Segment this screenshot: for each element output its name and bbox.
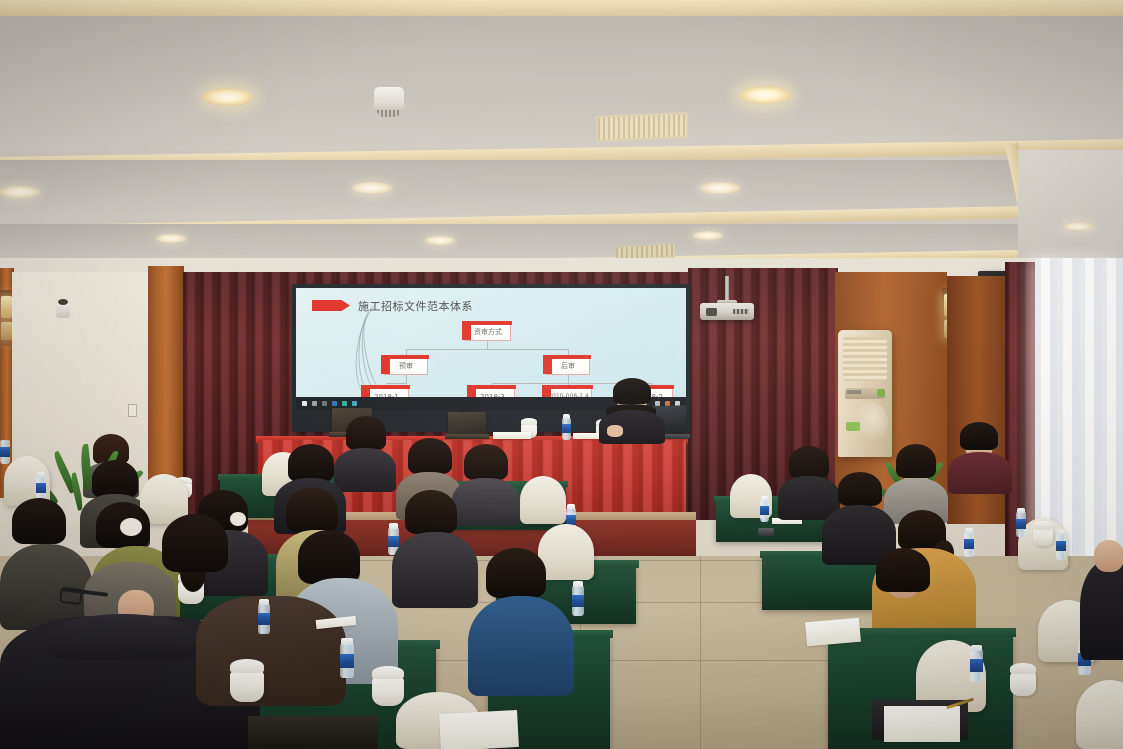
attendee-l-m2-hair xyxy=(286,488,338,532)
bottle-label-head-1 xyxy=(562,424,571,433)
teacup-lid-r2 xyxy=(1010,663,1036,674)
paper-l2[interactable] xyxy=(439,710,519,749)
projector-icon xyxy=(700,303,754,320)
bottle-label-l6 xyxy=(340,654,354,668)
attendee-r-n1-hair xyxy=(876,548,930,592)
paper-r3[interactable] xyxy=(805,618,861,647)
bottle-label-l7 xyxy=(258,613,270,625)
teacup-lid-r1 xyxy=(1033,521,1053,530)
attendee-c-m1-hair xyxy=(405,490,457,534)
bottle-cap-r5 xyxy=(971,645,982,651)
paper-r2[interactable] xyxy=(884,706,960,742)
attendee-l-f1-body xyxy=(334,448,396,492)
ceiling-panel-1 xyxy=(0,16,1123,149)
wall-camera-icon xyxy=(56,302,70,318)
bottle-cap-r2 xyxy=(1017,508,1025,513)
attendee-r-back-hair xyxy=(960,422,998,450)
teacup-lid-l5 xyxy=(372,666,404,679)
downlight-2 xyxy=(739,86,791,104)
bottle-cap-r3 xyxy=(1057,530,1065,535)
bottle-label-l4 xyxy=(36,483,46,493)
bottle-label-l3 xyxy=(0,447,10,457)
chair-center-far-1[interactable] xyxy=(520,476,566,524)
bottle-label-l1 xyxy=(388,536,399,547)
head-table-laptop-base-2[interactable] xyxy=(445,434,489,439)
folder-icon[interactable] xyxy=(302,401,307,406)
downlight-1 xyxy=(202,88,254,106)
phone-r1[interactable] xyxy=(758,528,774,536)
attendee-r-back-body xyxy=(948,452,1012,494)
red-arrow-banner-icon xyxy=(312,300,350,311)
ac-grille xyxy=(843,337,887,381)
bottle-label-r5 xyxy=(970,659,983,672)
bottle-cap-l5 xyxy=(573,581,583,587)
air-conditioner-unit xyxy=(838,330,892,457)
attendee-l-n1-hair xyxy=(298,530,360,584)
teacup-l5[interactable] xyxy=(372,676,404,706)
bottle-label-r3 xyxy=(1056,541,1066,551)
folder-l1[interactable] xyxy=(248,716,378,749)
connector-root-down xyxy=(487,341,488,349)
attendee-l-f5-hair xyxy=(92,460,138,498)
attendee-l-n2-hair xyxy=(162,514,228,572)
downlight-5 xyxy=(700,182,740,194)
attendee-l-m4-hair xyxy=(12,498,66,544)
mail-icon[interactable] xyxy=(352,401,357,406)
attendee-r-mid-hair xyxy=(896,444,936,478)
bottle-cap-head-1 xyxy=(563,414,570,419)
connector-l3-0-bus xyxy=(386,383,407,384)
teacup-r2[interactable] xyxy=(1010,672,1036,696)
bottle-cap-l6 xyxy=(341,638,353,645)
downlight-3 xyxy=(0,186,40,198)
attendee-l-f1-hair xyxy=(346,416,386,450)
attendee-l-f3-body xyxy=(452,478,520,526)
connector-l2-1-down xyxy=(568,375,569,383)
ceiling-air-vent-1 xyxy=(596,112,688,142)
attendee-c-n1-body xyxy=(468,596,574,696)
bottle-label-r4 xyxy=(964,539,974,549)
attendee-l-f3-hair xyxy=(464,444,508,480)
teacup-l4[interactable] xyxy=(230,670,264,702)
smoke-detector-icon xyxy=(374,87,404,113)
bottle-cap-r1 xyxy=(761,496,768,501)
bottle-label-r2 xyxy=(1016,519,1026,529)
teacup-r1[interactable] xyxy=(1033,528,1053,546)
presenter-hand xyxy=(607,425,623,437)
floor-tile-line-v2 xyxy=(700,556,701,749)
projector-mount xyxy=(725,276,729,302)
attendee-l-m3-hairclip xyxy=(120,518,142,536)
bottle-cap-l2 xyxy=(567,504,575,509)
teacup-lid-head-1 xyxy=(521,418,537,425)
attendee-r-edge-body xyxy=(1080,560,1123,660)
head-table-laptop-screen-2[interactable] xyxy=(448,412,486,436)
downlight-8 xyxy=(693,231,723,240)
paper-head-1[interactable] xyxy=(493,432,531,439)
ceiling-beam-0 xyxy=(0,0,1123,17)
ceiling xyxy=(0,0,1123,272)
ac-badge xyxy=(877,389,885,397)
ac-energy-label xyxy=(846,422,860,431)
app-icon[interactable] xyxy=(332,401,337,406)
downlight-4 xyxy=(352,182,392,194)
attendee-l-f2-hair xyxy=(408,438,452,474)
attendee-r-m1-hair xyxy=(838,472,882,506)
wall-sconce-left xyxy=(1,296,12,318)
bottle-cap-l7 xyxy=(259,599,269,605)
connector-l2-0-down xyxy=(406,375,407,383)
ceiling-panel-right xyxy=(1018,150,1123,272)
attendee-c-m1-body xyxy=(392,532,478,608)
presenter-hair xyxy=(613,378,651,404)
slide-title: 施工招标文件范本体系 xyxy=(358,298,473,314)
downlight-7 xyxy=(425,236,455,245)
media-icon[interactable] xyxy=(322,401,327,406)
attendee-foreground-vest xyxy=(196,596,346,706)
downlight-9 xyxy=(1063,222,1093,231)
connector-level2-bus xyxy=(406,349,569,350)
bottle-cap-r4 xyxy=(965,528,973,533)
wall-sconce-left-lower xyxy=(1,322,12,340)
bottle-cap-l4 xyxy=(37,472,45,477)
conference-room-photo: 施工招标文件范本体系 资审方式 预审 后审 2018-1 2018-3 201 xyxy=(0,0,1123,749)
diagram-node-level2-1: 后审 xyxy=(546,358,590,375)
bottle-label-l5 xyxy=(572,595,584,607)
chart-icon[interactable] xyxy=(342,401,347,406)
diagram-node-root: 资审方式 xyxy=(465,324,511,341)
plant-leaf xyxy=(79,444,93,491)
ac-logo xyxy=(847,390,861,394)
attendee-r-edge-face xyxy=(1094,540,1123,572)
bottle-cap-l1 xyxy=(389,523,398,529)
eyeglasses-lens-left xyxy=(59,587,83,606)
chair-center-mid-1[interactable] xyxy=(538,524,594,580)
attendee-l-m1-hairclip xyxy=(230,512,246,526)
downlight-6 xyxy=(156,234,186,243)
attendee-r-far-hair xyxy=(789,446,829,478)
bottle-label-r1 xyxy=(760,506,769,515)
wall-outlet xyxy=(128,404,137,417)
browser-icon[interactable] xyxy=(312,401,317,406)
attendee-l-f4-hair xyxy=(288,444,334,482)
diagram-node-level2-0: 预审 xyxy=(384,358,428,375)
teacup-lid-l4 xyxy=(230,659,264,673)
attendee-c-n1-hair xyxy=(486,548,546,598)
attendee-foreground-hood xyxy=(48,614,198,660)
